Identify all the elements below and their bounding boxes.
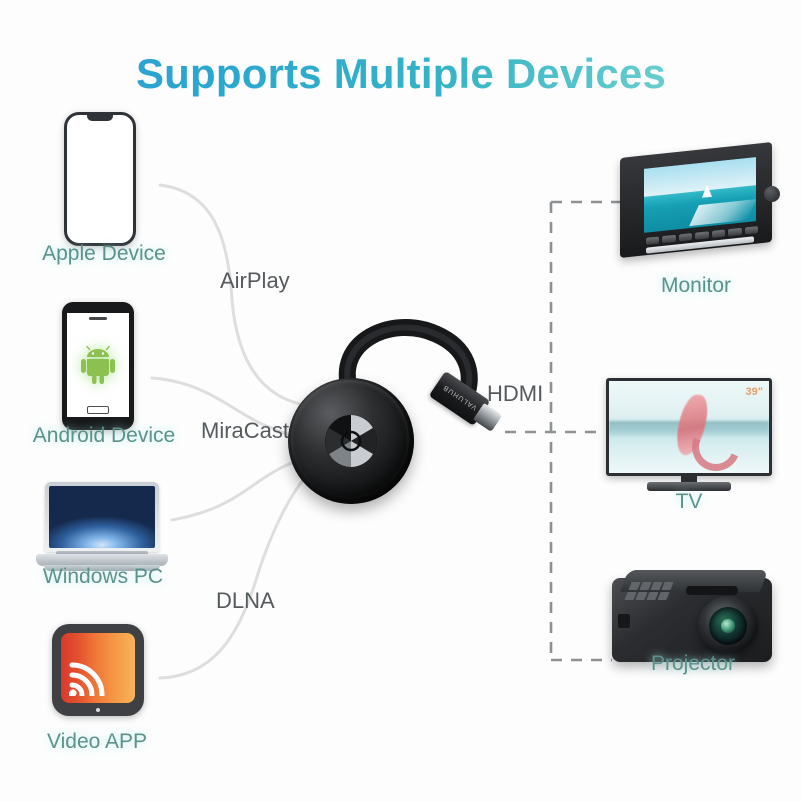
label-video-app: Video APP (14, 730, 180, 754)
protocol-label-airplay: AirPlay (220, 268, 290, 294)
projector-lens-inner (709, 607, 747, 645)
page-title: Supports Multiple Devices (0, 50, 802, 98)
video-app-home-dot (96, 708, 100, 712)
projector-keypad[interactable] (624, 582, 673, 600)
label-windows-pc: Windows PC (20, 565, 186, 589)
monitor-screen-sailboat (702, 183, 712, 197)
label-android-device: Android Device (6, 424, 202, 448)
protocol-label-miracast: MiraCast (201, 418, 289, 444)
android-phone-icon (62, 302, 134, 430)
monitor-button[interactable] (646, 236, 659, 244)
wire-windows (172, 458, 306, 520)
video-app-screen (61, 633, 135, 703)
tv-panel: 39" (606, 378, 772, 476)
phone-screen (67, 313, 129, 417)
monitor-button[interactable] (695, 231, 708, 239)
cast-wifi-icon (69, 662, 107, 696)
television-icon: 39" (606, 378, 772, 496)
laptop-lid (45, 482, 159, 552)
label-monitor: Monitor (606, 274, 786, 298)
label-apple-device: Apple Device (16, 242, 192, 266)
dongle-device[interactable]: VALUHUB (288, 312, 518, 512)
monitor-mount-knob (764, 186, 780, 202)
video-app-icon (52, 624, 144, 716)
monitor-button[interactable] (679, 233, 692, 241)
tv-screen-badge: 39" (746, 386, 763, 398)
dongle-disc (288, 378, 414, 504)
laptop-screen (49, 486, 155, 548)
device-video-app[interactable] (52, 624, 144, 716)
apple-phone-icon (64, 112, 136, 246)
wire-apple (160, 185, 300, 404)
monitor-button[interactable] (712, 230, 725, 238)
device-windows-pc[interactable] (36, 482, 168, 574)
device-monitor[interactable] (620, 150, 772, 260)
phone-notch (87, 115, 113, 121)
monitor-button[interactable] (662, 235, 675, 243)
monitor-screen (644, 157, 756, 233)
infographic-canvas: Supports Multiple Devices Apple Device (0, 0, 802, 802)
device-apple[interactable] (64, 112, 136, 246)
camera-shutter-icon (323, 413, 379, 469)
monitor-button[interactable] (728, 228, 741, 236)
laptop-icon (36, 482, 168, 574)
monitor-button[interactable] (745, 226, 758, 234)
projector-vent (686, 586, 738, 595)
android-robot-icon (80, 346, 116, 384)
projector-lens-glint (721, 619, 735, 633)
device-android[interactable] (62, 302, 134, 430)
device-tv[interactable]: 39" (606, 378, 772, 496)
tv-screen: 39" (609, 381, 769, 473)
phone-home-button (87, 406, 109, 414)
projector-lens (698, 596, 758, 656)
phone-speaker (89, 317, 107, 320)
protocol-label-dlna: DLNA (216, 588, 275, 614)
label-hdmi: HDMI (487, 381, 543, 407)
monitor-screen-pier (689, 199, 756, 226)
projector-side-port (618, 614, 630, 628)
label-projector: Projector (600, 652, 786, 676)
label-tv: TV (619, 490, 759, 514)
car-monitor-icon (620, 150, 772, 260)
